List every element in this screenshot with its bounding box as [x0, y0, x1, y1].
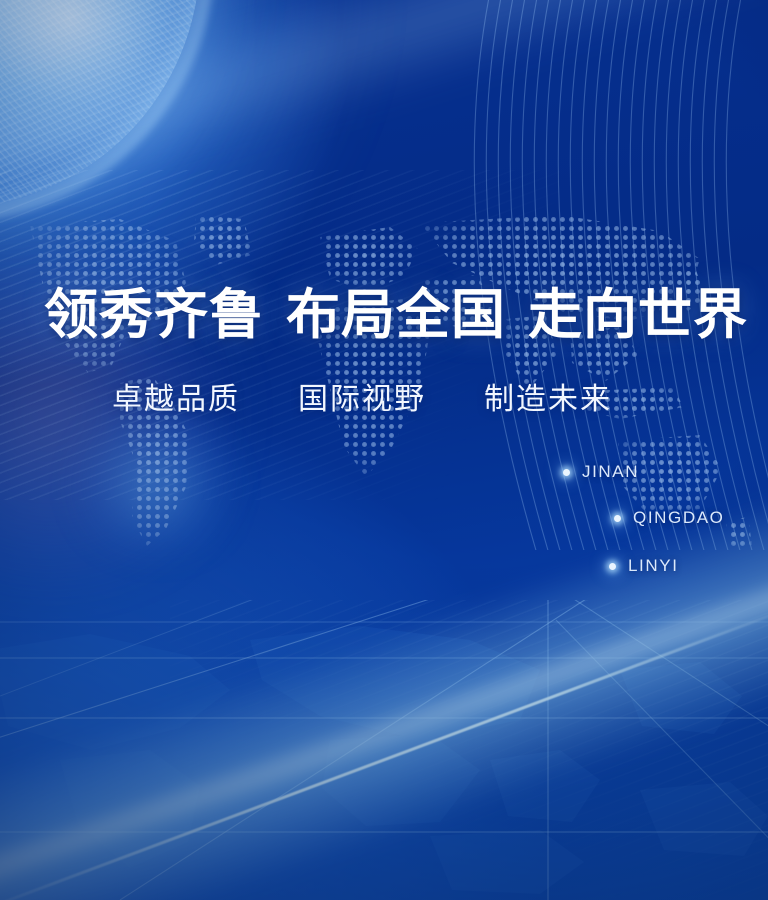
- city-label-jinan: JINAN: [582, 462, 639, 482]
- city-label-qingdao: QINGDAO: [633, 508, 725, 528]
- headline: 领秀齐鲁布局全国走向世界: [44, 270, 748, 349]
- city-marker-qingdao[interactable]: QINGDAO: [614, 508, 725, 528]
- subheadline: 卓越品质国际视野制造未来: [112, 374, 612, 418]
- subheadline-segment-1: 卓越品质: [112, 383, 240, 416]
- location-dot-icon: [614, 515, 621, 522]
- subheadline-segment-2: 国际视野: [298, 383, 426, 416]
- promo-banner: 领秀齐鲁布局全国走向世界 卓越品质国际视野制造未来 JINAN QINGDAO …: [0, 0, 768, 900]
- location-dot-icon: [563, 469, 570, 476]
- headline-segment-1: 领秀齐鲁: [44, 270, 264, 349]
- banner-content: 领秀齐鲁布局全国走向世界 卓越品质国际视野制造未来 JINAN QINGDAO …: [0, 0, 768, 900]
- city-marker-linyi[interactable]: LINYI: [609, 556, 679, 576]
- headline-segment-3: 走向世界: [528, 270, 748, 349]
- location-dot-icon: [609, 563, 616, 570]
- city-label-linyi: LINYI: [628, 556, 679, 576]
- headline-segment-2: 布局全国: [286, 270, 506, 349]
- city-marker-jinan[interactable]: JINAN: [563, 462, 639, 482]
- subheadline-segment-3: 制造未来: [484, 383, 612, 416]
